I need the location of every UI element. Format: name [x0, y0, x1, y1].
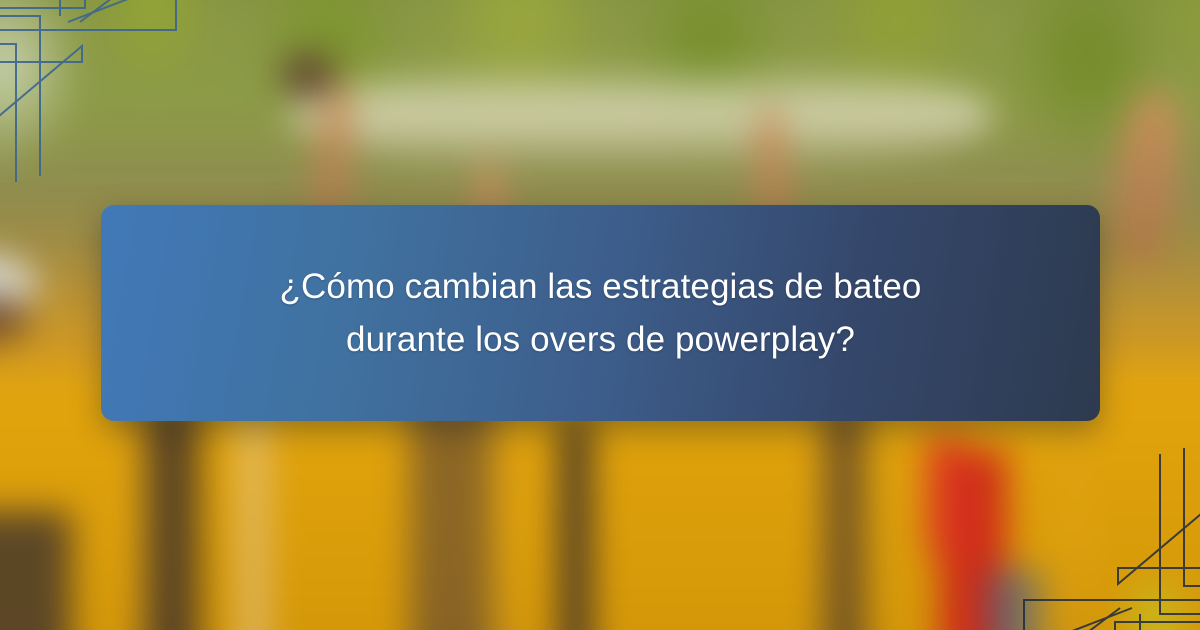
player-blue-detail — [987, 571, 1041, 630]
question-card: ¿Cómo cambian las estrategias de bateo d… — [101, 205, 1100, 421]
player-head — [281, 52, 336, 99]
background-shadow — [824, 405, 865, 630]
background-shadow — [145, 405, 199, 630]
player-jersey — [193, 390, 410, 630]
background-shadow — [559, 420, 592, 630]
question-card-canvas: ¿Cómo cambian las estrategias de bateo d… — [0, 0, 1200, 630]
background-shadow — [410, 390, 491, 630]
cricket-bat — [240, 413, 267, 630]
player-red-sleeve — [926, 435, 967, 555]
question-text: ¿Cómo cambian las estrategias de bateo d… — [221, 260, 981, 366]
background-shadow — [0, 511, 71, 630]
background-sightscreen — [288, 67, 994, 165]
player-green-detail — [1129, 586, 1183, 630]
